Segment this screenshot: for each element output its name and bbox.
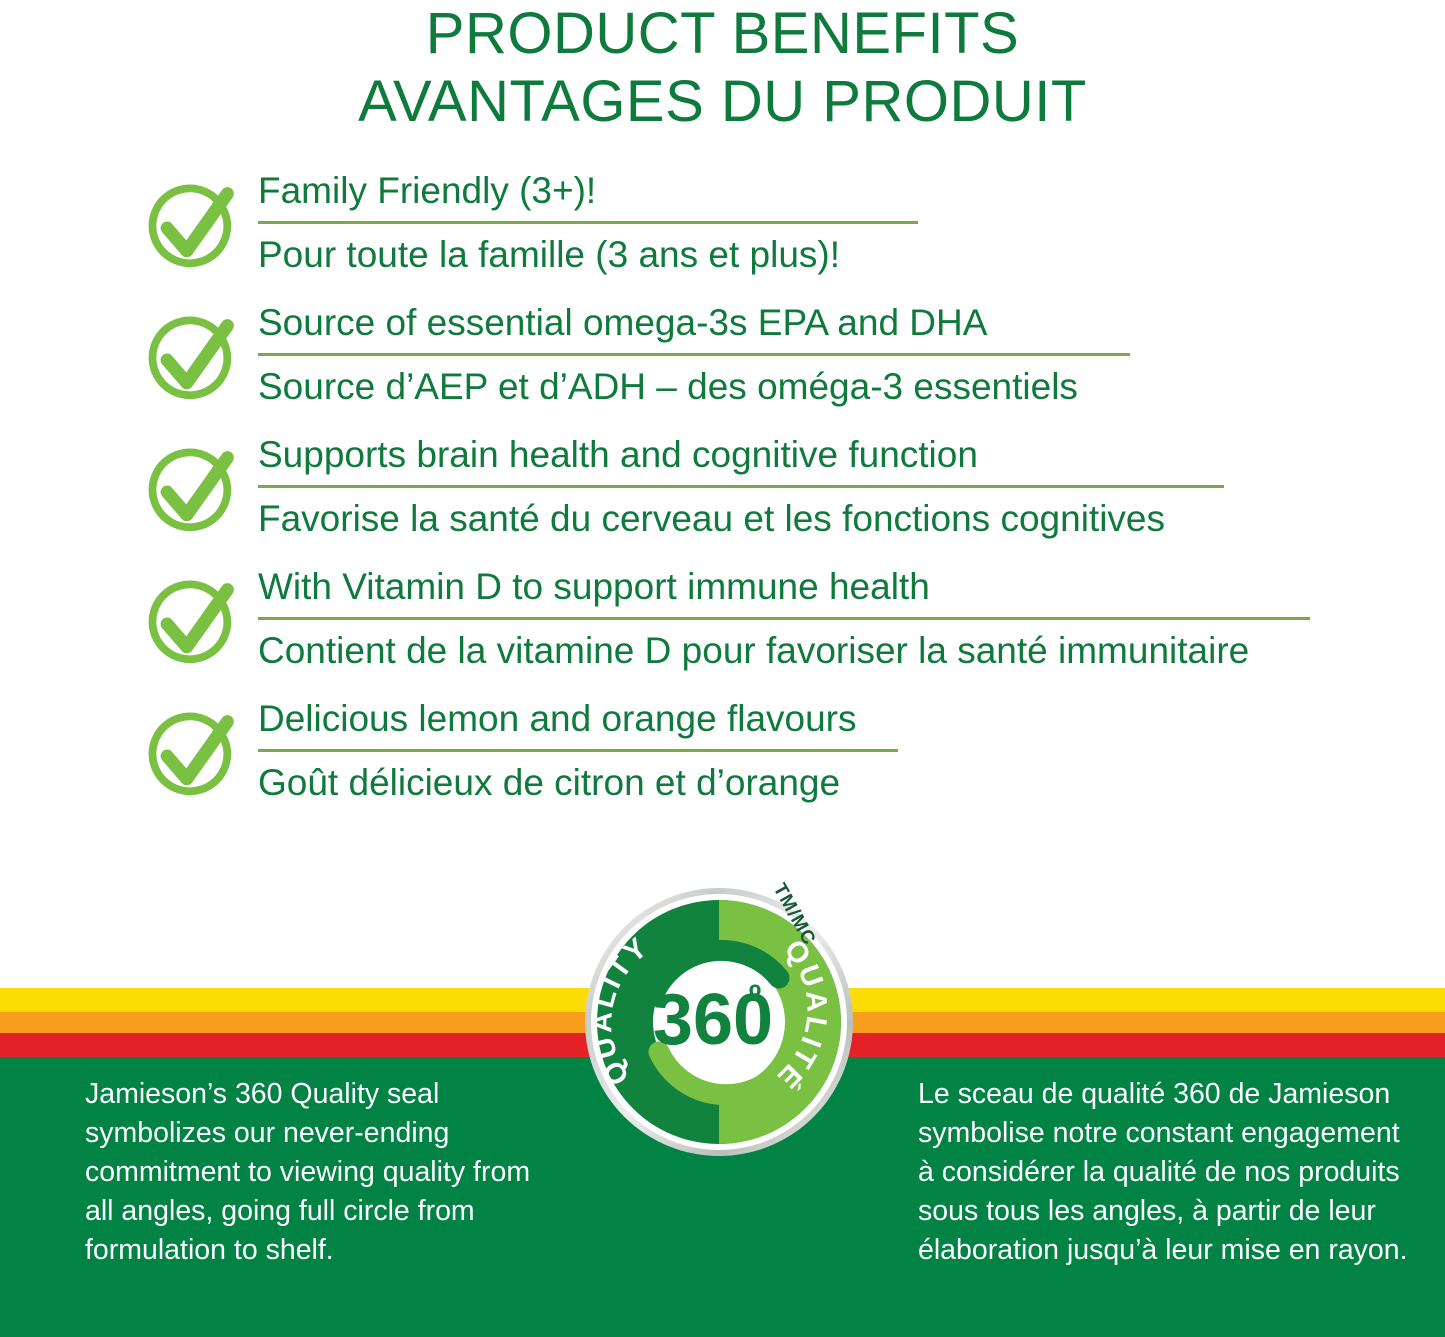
check-circle-icon (140, 440, 244, 544)
benefit-icon-wrap (140, 160, 258, 280)
benefit-icon-wrap (140, 556, 258, 676)
check-circle-icon (140, 704, 244, 808)
benefit-item: Delicious lemon and orange flavours Goût… (0, 688, 1445, 810)
check-circle-icon (140, 308, 244, 412)
benefit-icon-wrap (140, 292, 258, 412)
seal-description-english: Jamieson’s 360 Quality seal symbolizes o… (85, 1075, 565, 1270)
seal-degree-symbol: º (749, 978, 761, 1016)
check-circle-icon (140, 176, 244, 280)
benefit-text-english: Delicious lemon and orange flavours (258, 692, 1445, 746)
benefit-divider (258, 353, 1130, 356)
benefit-text-group: Delicious lemon and orange flavours Goût… (258, 688, 1445, 810)
benefit-text-group: Supports brain health and cognitive func… (258, 424, 1445, 546)
quality-360-seal: QUALITY QUALITÉ 360 º (583, 886, 855, 1158)
benefit-icon-wrap (140, 688, 258, 808)
benefit-text-english: With Vitamin D to support immune health (258, 560, 1445, 614)
benefit-icon-wrap (140, 424, 258, 544)
benefit-divider (258, 221, 918, 224)
seal-description-english-text: Jamieson’s 360 Quality seal symbolizes o… (85, 1075, 565, 1270)
benefit-text-english: Family Friendly (3+)! (258, 164, 1445, 218)
seal-description-french-text: Le sceau de qualité 360 de Jamieson symb… (918, 1075, 1408, 1270)
page-title-english: PRODUCT BENEFITS (0, 0, 1445, 66)
check-circle-icon (140, 572, 244, 676)
benefit-text-french: Pour toute la famille (3 ans et plus)! (258, 228, 1445, 282)
benefit-item: Supports brain health and cognitive func… (0, 424, 1445, 546)
benefit-divider (258, 749, 898, 752)
benefit-text-french: Contient de la vitamine D pour favoriser… (258, 624, 1445, 678)
benefit-text-english: Supports brain health and cognitive func… (258, 428, 1445, 482)
benefit-item: Family Friendly (3+)! Pour toute la fami… (0, 160, 1445, 282)
benefits-list: Family Friendly (3+)! Pour toute la fami… (0, 160, 1445, 820)
benefit-text-group: Family Friendly (3+)! Pour toute la fami… (258, 160, 1445, 282)
quality-360-seal-graphic: QUALITY QUALITÉ 360 º (583, 886, 855, 1158)
benefit-text-group: With Vitamin D to support immune health … (258, 556, 1445, 678)
benefit-text-french: Favorise la santé du cerveau et les fonc… (258, 492, 1445, 546)
benefit-item: Source of essential omega-3s EPA and DHA… (0, 292, 1445, 414)
benefit-text-english: Source of essential omega-3s EPA and DHA (258, 296, 1445, 350)
benefit-item: With Vitamin D to support immune health … (0, 556, 1445, 678)
page-title: PRODUCT BENEFITS AVANTAGES DU PRODUIT (0, 0, 1445, 134)
benefit-text-group: Source of essential omega-3s EPA and DHA… (258, 292, 1445, 414)
seal-description-french: Le sceau de qualité 360 de Jamieson symb… (918, 1075, 1408, 1270)
product-benefits-panel: PRODUCT BENEFITS AVANTAGES DU PRODUIT Fa… (0, 0, 1445, 1337)
benefit-divider (258, 617, 1310, 620)
benefit-text-french: Goût délicieux de citron et d’orange (258, 756, 1445, 810)
benefit-divider (258, 485, 1224, 488)
page-title-french: AVANTAGES DU PRODUIT (0, 66, 1445, 134)
benefit-text-french: Source d’AEP et d’ADH – des oméga-3 esse… (258, 360, 1445, 414)
